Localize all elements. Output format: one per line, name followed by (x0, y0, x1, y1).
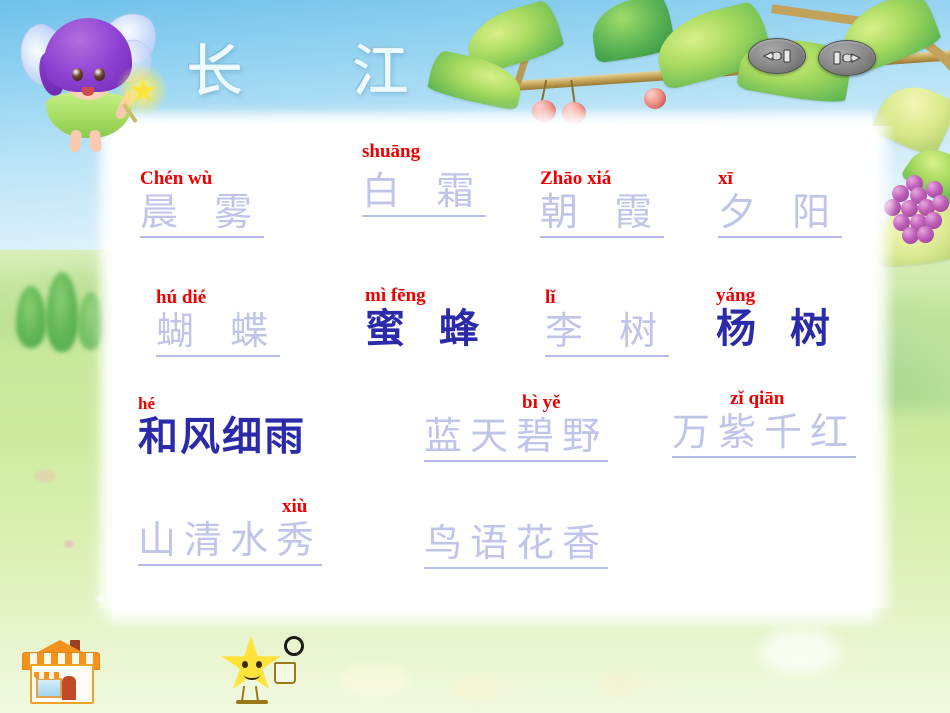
panel-edge-fade-right (870, 126, 896, 608)
star-mascot (212, 636, 298, 712)
star-eye (256, 661, 262, 668)
page-title: 长 江 (186, 26, 454, 107)
pinyin-label: bì yě (424, 392, 608, 413)
star-mouth (244, 670, 260, 680)
flower-cluster (450, 676, 498, 702)
hanzi-label: 李 树 (545, 308, 669, 357)
word-card-niaoyuhuaxiang[interactable]: 鸟语花香 (424, 520, 608, 569)
hanzi-label: 晨 雾 (140, 189, 264, 238)
flower-speck (64, 540, 74, 548)
fairy-eye (72, 68, 83, 81)
word-card-hudie[interactable]: hú dié 蝴 蝶 (156, 287, 280, 357)
pointing-hand-left-icon (760, 46, 794, 66)
word-card-xiyang[interactable]: xī 夕 阳 (718, 168, 842, 238)
pointing-hand-right-icon (830, 48, 864, 68)
fairy-leg (89, 129, 102, 152)
petal-speck (34, 470, 56, 482)
hanzi-label: 夕 阳 (718, 189, 842, 238)
hanzi-label: 白 霜 (362, 168, 486, 217)
flower-cluster (340, 664, 410, 698)
house-window (36, 678, 62, 698)
fairy-eye (94, 68, 105, 81)
pinyin-label: shuāng (362, 140, 436, 164)
fairy-mouth (82, 87, 94, 96)
word-card-zhaoxia[interactable]: Zhāo xiá 朝 霞 (540, 168, 664, 238)
word-card-hefengxiyu[interactable]: hé 和风细雨 (138, 393, 306, 460)
star-eye (242, 661, 248, 668)
panel-edge-fade-left (96, 126, 118, 608)
star-feet (236, 700, 268, 704)
house-awning (34, 672, 60, 679)
pinyin-label: hé (138, 393, 306, 414)
hanzi-label: 蜜 蜂 (365, 306, 489, 352)
flower-speck (96, 596, 105, 603)
prev-page-button[interactable] (748, 38, 806, 74)
word-card-lantianbiye[interactable]: bì yě 蓝天碧野 (424, 392, 608, 462)
pinyin-label: Chén wù (140, 168, 264, 189)
berry-icon (644, 88, 666, 109)
light-glow (760, 628, 840, 674)
pinyin-label: lǐ (545, 287, 669, 308)
slide-root: 长 江 Chén wù 晨 雾 shuāng 白 霜 Zhāo xiá 朝 霞 … (0, 0, 950, 713)
hanzi-label: 鸟语花香 (424, 520, 608, 569)
watering-can-icon (274, 662, 296, 684)
house-door (62, 676, 76, 700)
pinyin-label: xī (718, 168, 842, 189)
word-card-mifeng[interactable]: mì fēng 蜜 蜂 (365, 285, 489, 352)
star-icon (220, 636, 282, 694)
pinyin-label: yáng (716, 285, 840, 306)
next-page-button[interactable] (818, 40, 876, 76)
word-card-lishu[interactable]: lǐ 李 树 (545, 287, 669, 357)
flower-cluster (600, 672, 640, 696)
pinyin-label: zǐ qiān (672, 388, 856, 409)
word-card-yangshu[interactable]: yáng 杨 树 (716, 285, 840, 352)
hanzi-label: 杨 树 (716, 306, 840, 352)
hanzi-label: 蝴 蝶 (156, 308, 280, 357)
hanzi-label: 蓝天碧野 (424, 413, 608, 462)
hanzi-label: 万紫千红 (672, 409, 856, 458)
word-card-shanqingshuixiu[interactable]: xiù 山清水秀 (138, 496, 322, 566)
ring-icon (284, 636, 304, 656)
hanzi-label: 和风细雨 (138, 414, 306, 460)
pinyin-label: mì fēng (365, 285, 489, 306)
pinyin-label: Zhāo xiá (540, 168, 664, 189)
word-card-chenwu[interactable]: Chén wù 晨 雾 (140, 168, 264, 238)
home-button[interactable] (22, 640, 98, 702)
word-card-wanziqianhong[interactable]: zǐ qiān 万紫千红 (672, 388, 856, 458)
hanzi-label: 山清水秀 (138, 517, 322, 566)
hanzi-label: 朝 霞 (540, 189, 664, 238)
panel-edge-fade-top (112, 108, 872, 128)
word-card-baishuang[interactable]: shuāng 白 霜 (362, 140, 486, 217)
pinyin-label: xiù (138, 496, 322, 517)
panel-edge-fade-bottom (112, 604, 872, 630)
pinyin-label: hú dié (156, 287, 280, 308)
fairy-character (18, 6, 168, 134)
